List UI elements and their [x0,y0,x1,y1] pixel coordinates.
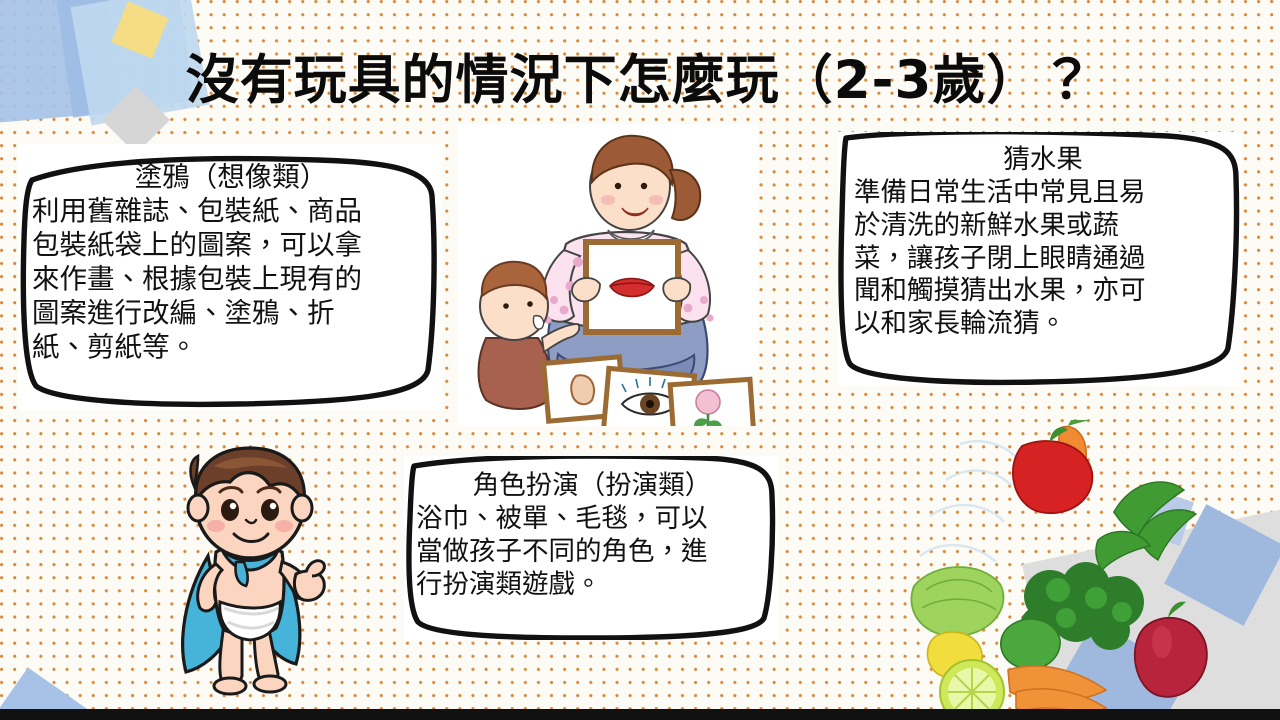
bubble-role[interactable]: 角色扮演（扮演類）浴巾、被單、毛毯，可以 當做孩子不同的角色，進 行扮演類遊戲。 [404,456,778,640]
bubble-role-text: 角色扮演（扮演類）浴巾、被單、毛毯，可以 當做孩子不同的角色，進 行扮演類遊戲。 [404,456,778,601]
bubble-doodle-text: 塗鴉（想像類）利用舊雜誌、包裝紙、商品 包裝紙袋上的圖案，可以拿 來作畫、根據包… [18,144,442,365]
bubble-doodle-body: 利用舊雜誌、包裝紙、商品 包裝紙袋上的圖案，可以拿 來作畫、根據包裝上現有的 圖… [32,195,362,363]
bubble-doodle[interactable]: 塗鴉（想像類）利用舊雜誌、包裝紙、商品 包裝紙袋上的圖案，可以拿 來作畫、根據包… [18,144,442,410]
slide-title: 沒有玩具的情況下怎麼玩（2-3歲）？ [0,38,1280,114]
bubble-fruit-heading: 猜水果 [854,144,1232,177]
bubble-fruit-body: 準備日常生活中常見且易 於清洗的新鮮水果或蔬 菜，讓孩子閉上眼睛通過 聞和觸摸猜… [854,177,1146,339]
vegetables-photo [900,420,1280,720]
bubble-role-body: 浴巾、被單、毛毯，可以 當做孩子不同的角色，進 行扮演類遊戲。 [416,503,708,600]
mother-and-child-flashcards-icon [458,124,758,426]
bubble-fruit[interactable]: 猜水果準備日常生活中常見且易 於清洗的新鮮水果或蔬 菜，讓孩子閉上眼睛通過 聞和… [838,132,1242,386]
slide-canvas: 沒有玩具的情況下怎麼玩（2-3歲）？ [0,0,1280,720]
bottom-black-bar [0,709,1280,720]
fresh-vegetables-icon [900,420,1280,720]
center-illustration-card [458,124,758,426]
bubble-fruit-text: 猜水果準備日常生活中常見且易 於清洗的新鮮水果或蔬 菜，讓孩子閉上眼睛通過 聞和… [838,132,1242,341]
bubble-doodle-heading: 塗鴉（想像類） [32,160,430,194]
bubble-role-heading: 角色扮演（扮演類） [416,470,768,503]
baby-superhero-illustration [150,446,350,704]
baby-superhero-thumbs-up-icon [150,446,350,704]
